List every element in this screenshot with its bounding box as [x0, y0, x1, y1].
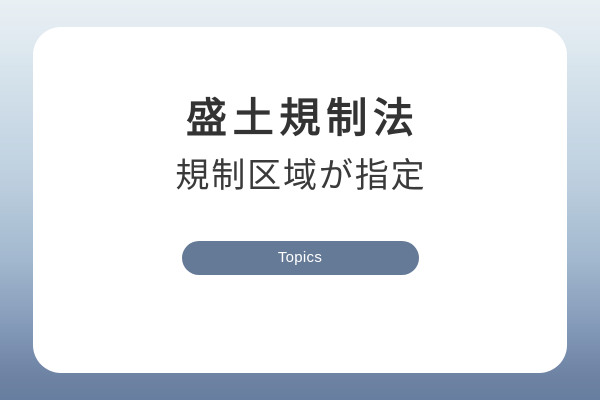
content-card: 盛土規制法 規制区域が指定 Topics	[33, 27, 567, 373]
title-block: 盛土規制法 規制区域が指定	[33, 95, 567, 197]
main-title: 盛土規制法	[33, 95, 567, 142]
topics-button[interactable]: Topics	[182, 241, 419, 275]
topics-banner: 盛土規制法 規制区域が指定 Topics	[0, 0, 600, 400]
sub-title: 規制区域が指定	[33, 156, 567, 197]
